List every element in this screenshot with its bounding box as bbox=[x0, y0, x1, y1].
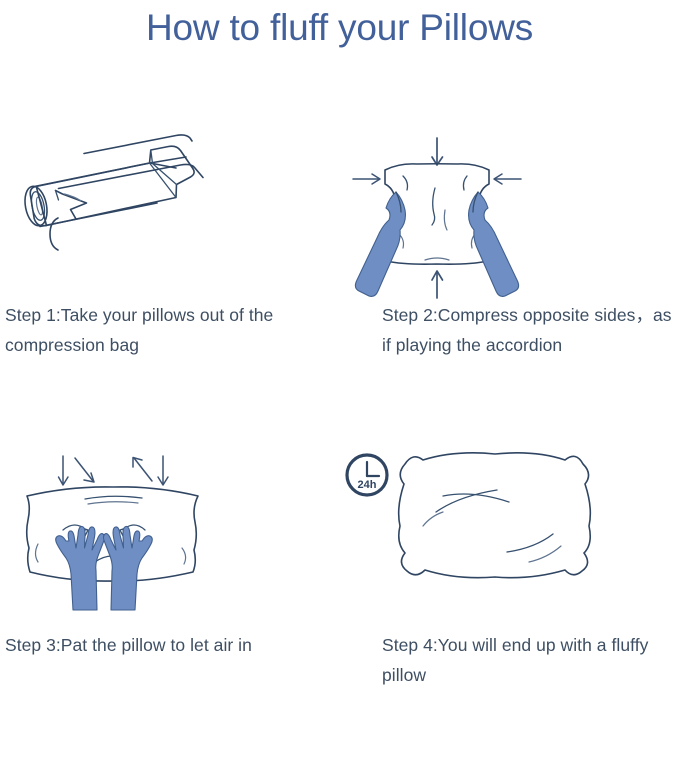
compression-bag-body bbox=[22, 135, 203, 305]
fluffy-pillow bbox=[399, 453, 591, 578]
step-card-3: Step 3:Pat the pillow to let air in bbox=[0, 440, 340, 760]
rolled-compression-bag-illustration bbox=[0, 130, 340, 305]
infographic-page: How to fluff your Pillows bbox=[0, 0, 679, 696]
arrow-up-bottom bbox=[432, 271, 443, 298]
step-2-caption: Step 2:Compress opposite sides，as if pla… bbox=[382, 300, 679, 360]
fluffy-pillow-illustration: 24h bbox=[339, 440, 679, 615]
right-patting-hand bbox=[104, 526, 153, 610]
compress-sides-illustration bbox=[339, 130, 679, 305]
step-card-1: Step 1:Take your pillows out of the comp… bbox=[0, 130, 340, 450]
arrow-left-right-side bbox=[494, 174, 521, 184]
pat-pillow-illustration bbox=[0, 440, 340, 615]
step-card-2: Step 2:Compress opposite sides，as if pla… bbox=[339, 130, 679, 450]
arrow-right-left-side bbox=[353, 174, 380, 184]
step-1-caption: Step 1:Take your pillows out of the comp… bbox=[5, 300, 331, 360]
left-patting-hand bbox=[56, 526, 105, 610]
step-3-caption: Step 3:Pat the pillow to let air in bbox=[5, 630, 331, 660]
arrow-down-4 bbox=[158, 456, 168, 485]
page-title: How to fluff your Pillows bbox=[0, 4, 679, 52]
clock-24h-icon: 24h bbox=[347, 455, 387, 495]
step-4-caption: Step 4:You will end up with a fluffy pil… bbox=[382, 630, 674, 690]
arrow-down-top bbox=[432, 138, 443, 165]
clock-label: 24h bbox=[358, 479, 377, 491]
arrow-down-2 bbox=[75, 458, 94, 482]
right-hand bbox=[469, 192, 519, 296]
left-hand bbox=[355, 192, 405, 296]
arrow-down-3 bbox=[133, 458, 152, 482]
arrow-down-1 bbox=[59, 456, 69, 485]
step-card-4: 24h Step 4:You will end up with a fluffy… bbox=[339, 440, 679, 760]
